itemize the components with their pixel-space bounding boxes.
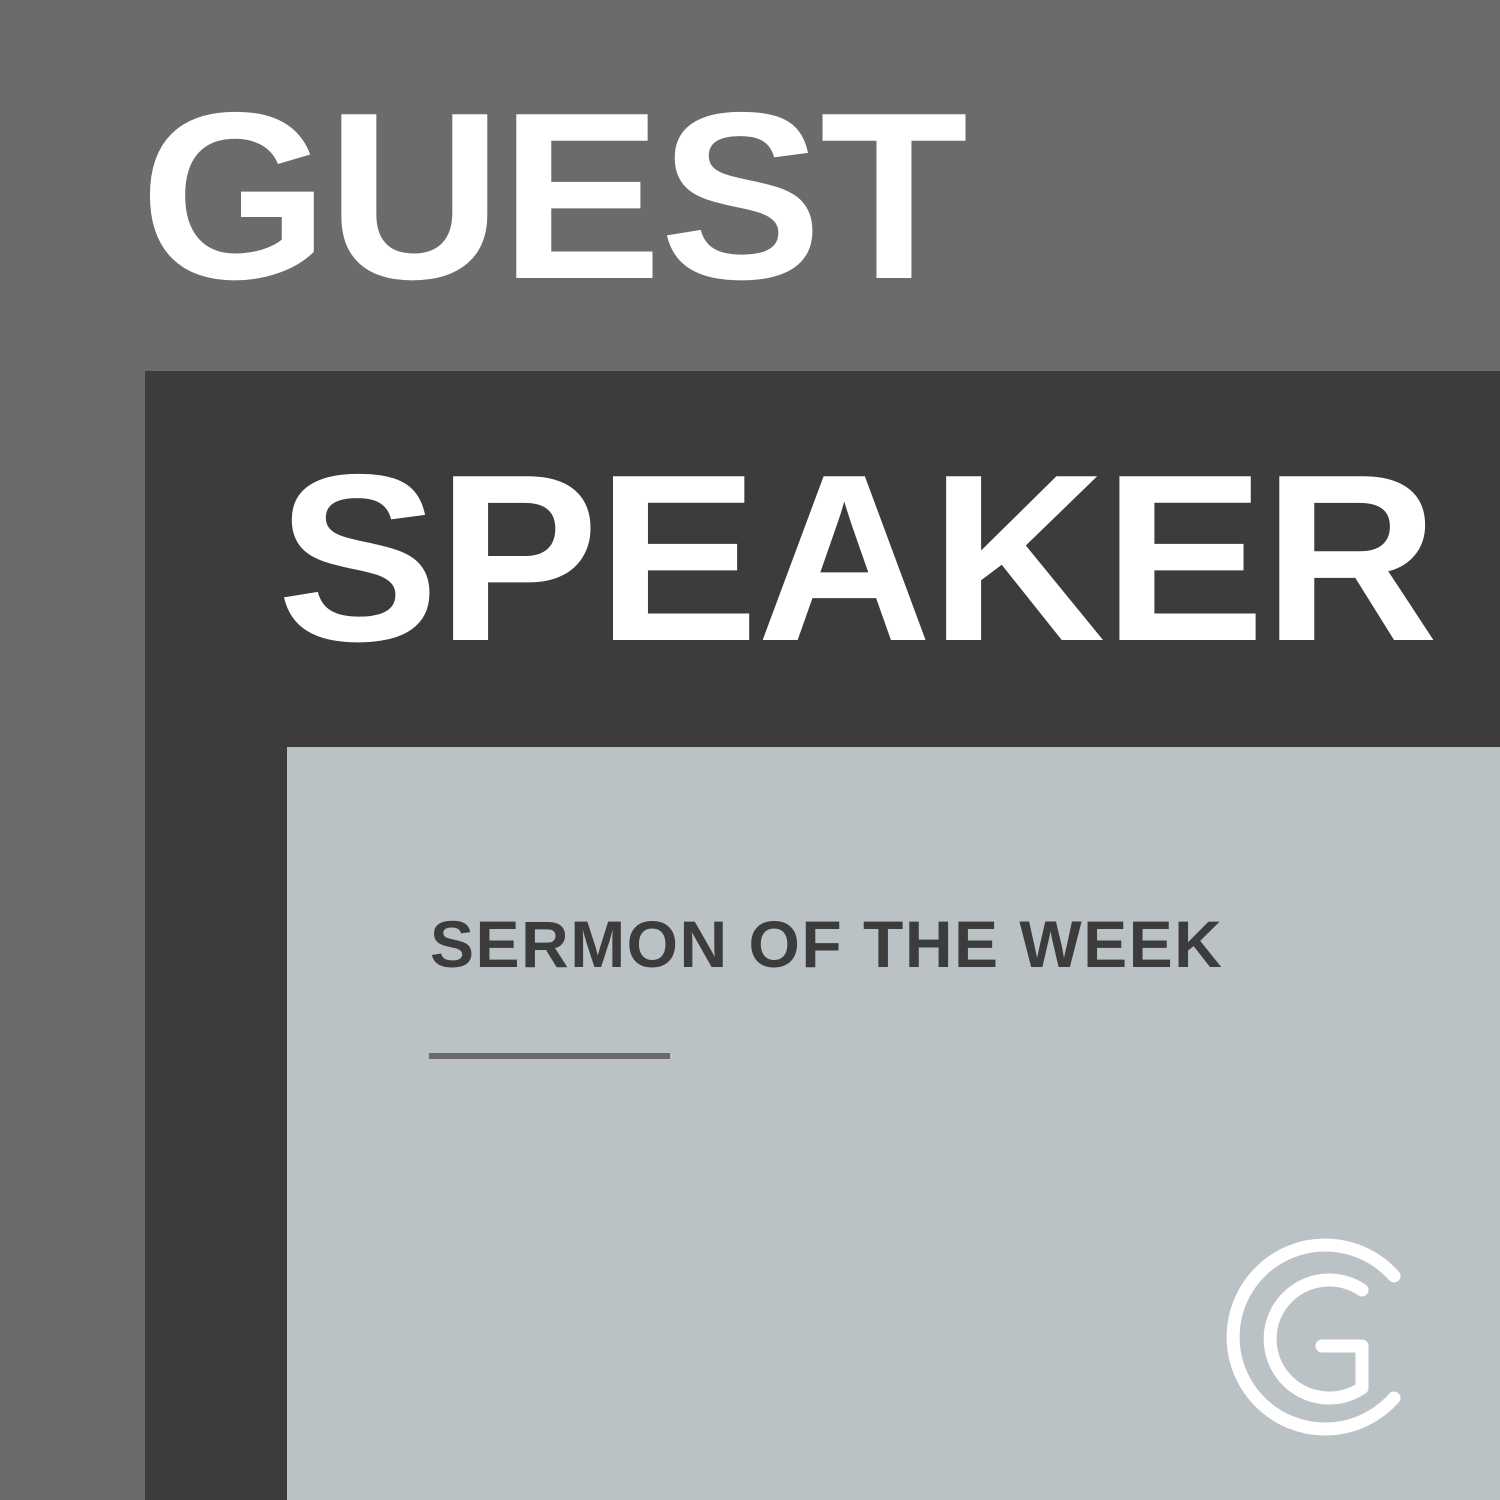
poster-canvas: GUEST SPEAKER SERMON OF THE WEEK (0, 0, 1500, 1500)
headline-line-two: SPEAKER (277, 440, 1399, 678)
subtitle-text: SERMON OF THE WEEK (430, 908, 1223, 980)
divider-rule (429, 1053, 670, 1059)
headline-line-one: GUEST (140, 78, 976, 316)
cg-monogram-icon (1218, 1228, 1428, 1446)
